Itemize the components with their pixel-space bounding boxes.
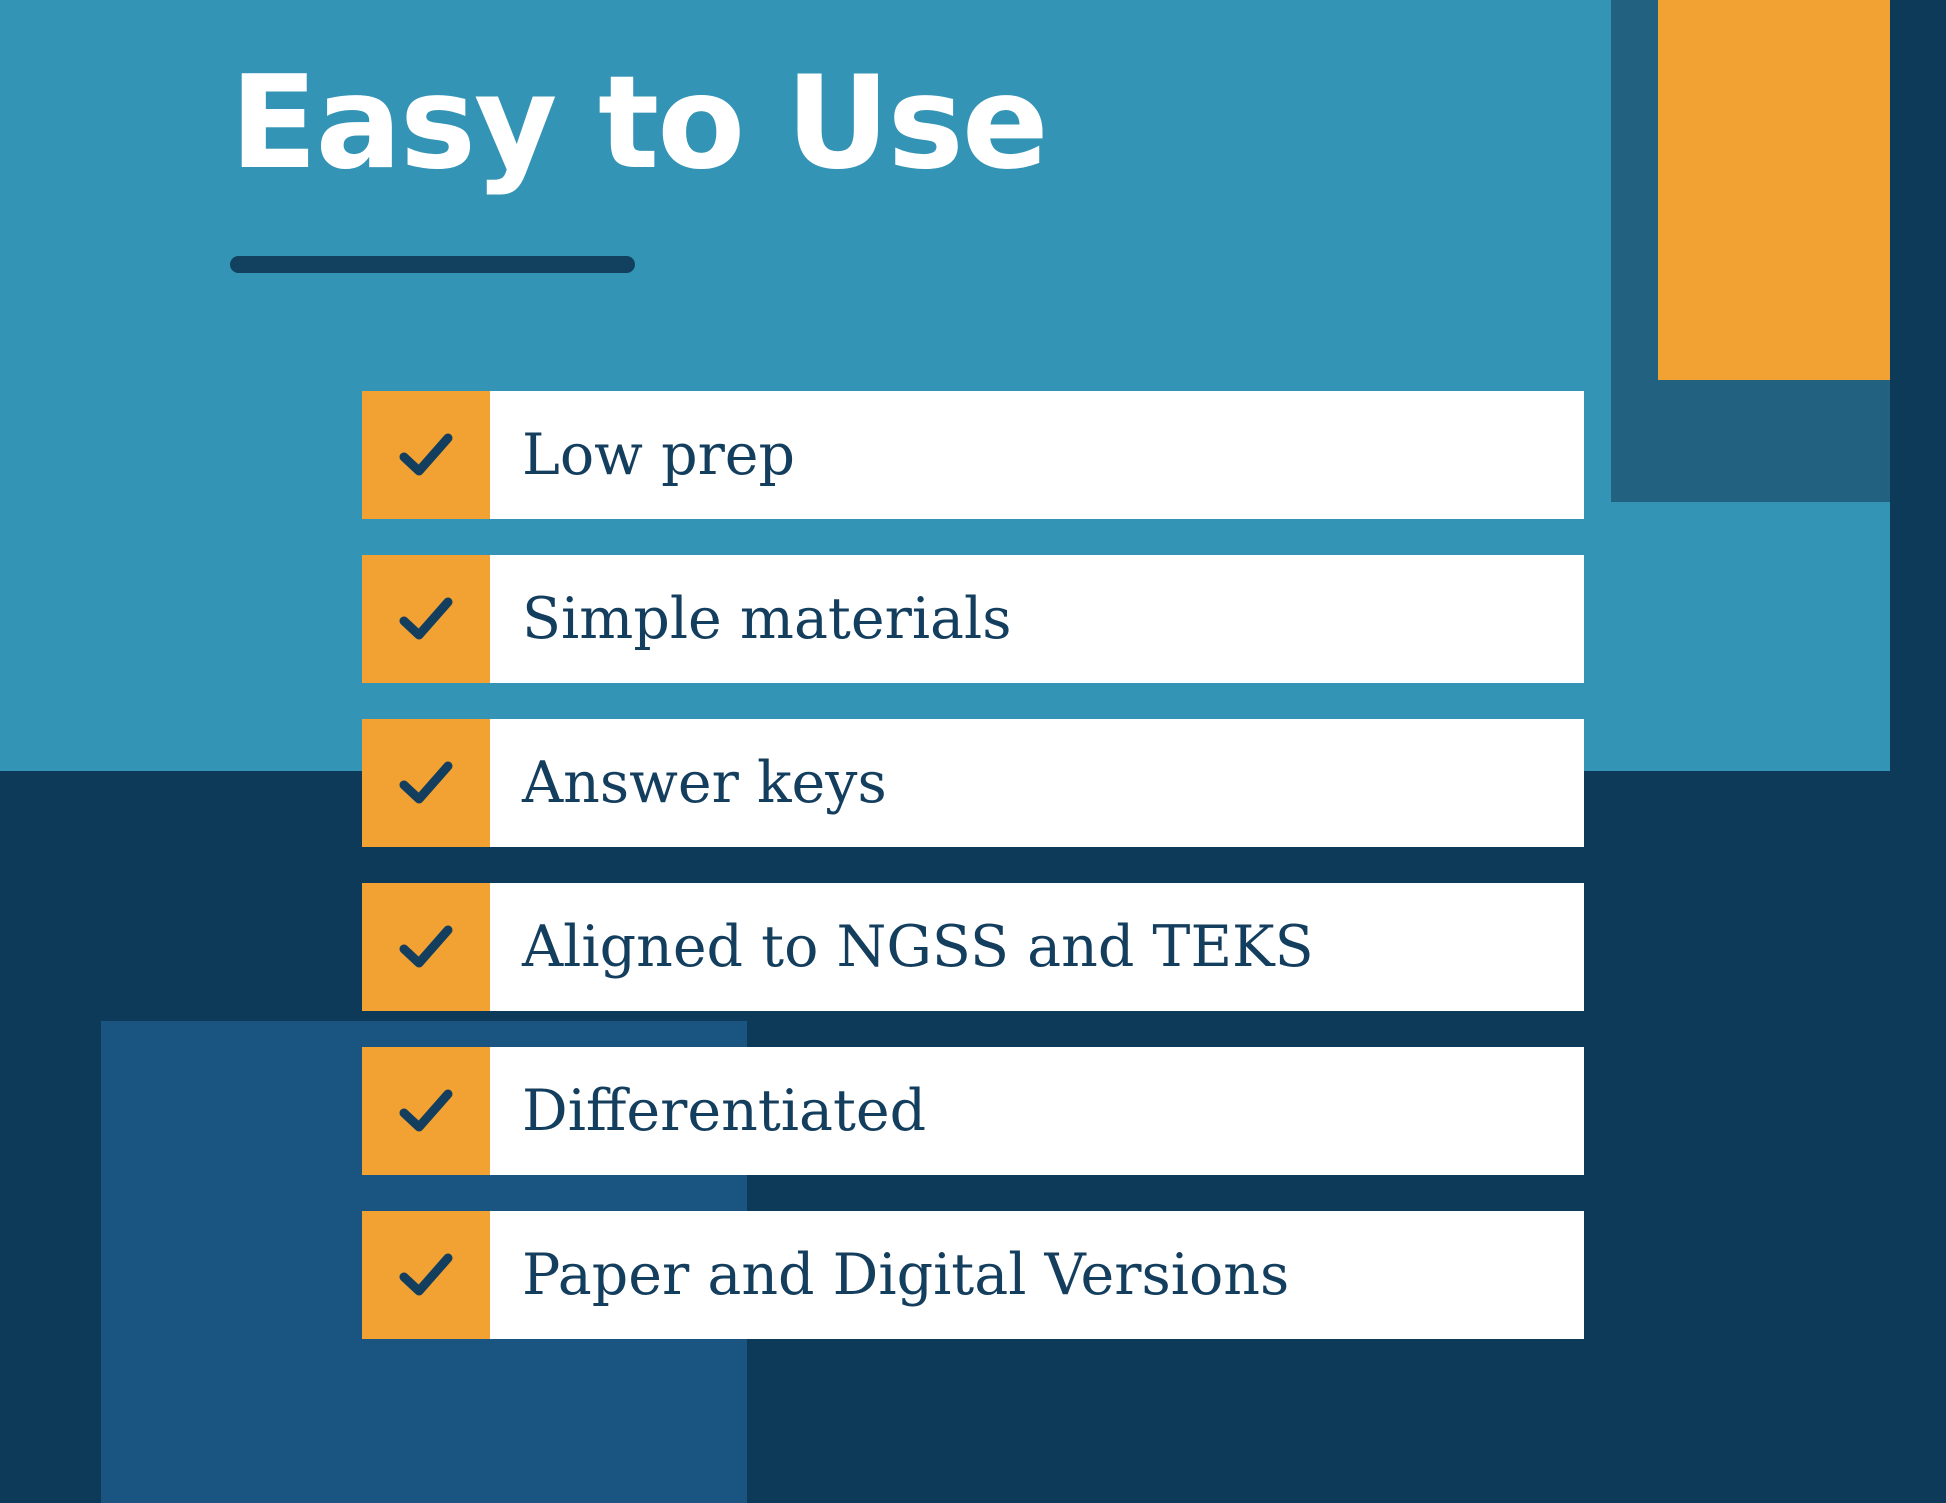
list-item-label: Answer keys xyxy=(522,755,887,812)
check-icon xyxy=(362,1211,490,1339)
list-item-label-cell: Answer keys xyxy=(490,719,1584,847)
check-icon xyxy=(362,883,490,1011)
slide-canvas: Easy to Use Low prep Simple materials xyxy=(0,0,1946,1503)
list-item-label: Simple materials xyxy=(522,591,1012,648)
list-item-label: Paper and Digital Versions xyxy=(522,1247,1289,1304)
list-item-label-cell: Paper and Digital Versions xyxy=(490,1211,1584,1339)
list-item[interactable]: Aligned to NGSS and TEKS xyxy=(362,883,1584,1011)
check-icon xyxy=(362,391,490,519)
list-item[interactable]: Low prep xyxy=(362,391,1584,519)
list-item-label: Low prep xyxy=(522,427,795,484)
list-item-label-cell: Low prep xyxy=(490,391,1584,519)
list-item-label: Aligned to NGSS and TEKS xyxy=(522,919,1314,976)
list-item-label-cell: Differentiated xyxy=(490,1047,1584,1175)
list-item-label-cell: Aligned to NGSS and TEKS xyxy=(490,883,1584,1011)
feature-checklist: Low prep Simple materials Answer keys xyxy=(362,391,1584,1339)
list-item-label-cell: Simple materials xyxy=(490,555,1584,683)
list-item[interactable]: Simple materials xyxy=(362,555,1584,683)
check-icon xyxy=(362,555,490,683)
list-item[interactable]: Differentiated xyxy=(362,1047,1584,1175)
page-title: Easy to Use xyxy=(230,52,1047,195)
check-icon xyxy=(362,719,490,847)
list-item-label: Differentiated xyxy=(522,1083,926,1140)
title-block: Easy to Use xyxy=(230,52,1047,195)
title-underline-rule xyxy=(230,256,635,273)
list-item[interactable]: Paper and Digital Versions xyxy=(362,1211,1584,1339)
check-icon xyxy=(362,1047,490,1175)
list-item[interactable]: Answer keys xyxy=(362,719,1584,847)
background-navy-right-strip xyxy=(1890,0,1946,1503)
